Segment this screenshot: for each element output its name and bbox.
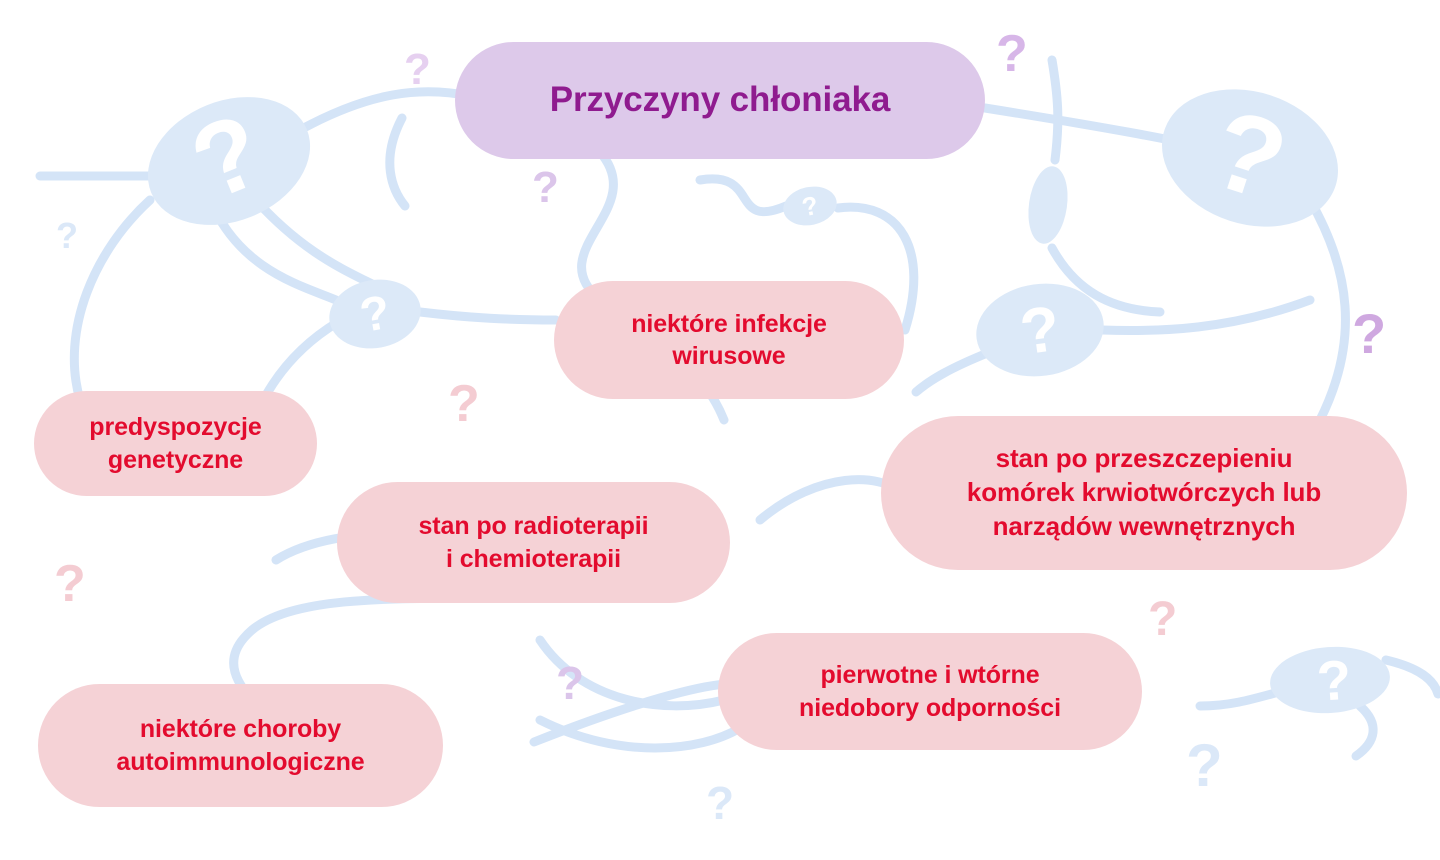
curve-right-top	[1052, 60, 1058, 160]
cause-label: predyspozycje genetyczne	[89, 411, 261, 476]
blob-small-upper	[780, 182, 841, 230]
blob-top-right	[1144, 67, 1356, 248]
cause-label: stan po radioterapii i chemioterapii	[419, 510, 649, 575]
cause-pill-radio-chemioterapia: stan po radioterapii i chemioterapii	[337, 482, 730, 603]
cause-pill-choroby-autoimmunologiczne: niektóre choroby autoimmunologiczne	[38, 684, 443, 807]
blob-mid-left	[324, 273, 426, 356]
question-mark-icon: ?	[556, 660, 584, 706]
curve-center-s	[700, 179, 786, 212]
curve-right-out	[1102, 300, 1310, 331]
question-mark-icon: ?	[404, 48, 431, 92]
cause-label: niektóre choroby autoimmunologiczne	[116, 713, 364, 778]
curve-tl-to-title	[300, 92, 470, 130]
page-title: Przyczyny chłoniaka	[550, 80, 890, 120]
question-mark-icon: ?	[54, 558, 86, 610]
cause-pill-predyspozycje-genetyczne: predyspozycje genetyczne	[34, 391, 317, 496]
question-mark-icon: ?	[706, 780, 734, 826]
question-mark-icon: ?	[532, 166, 559, 210]
question-mark-icon: ?	[996, 28, 1028, 80]
question-mark-icon: ?	[1186, 736, 1223, 796]
curve-title-right	[985, 108, 1170, 140]
blob-narrow-right	[1024, 164, 1072, 247]
question-mark-icon: ?	[1148, 596, 1177, 644]
curve-ml-left	[210, 200, 336, 300]
curve-tl-down	[252, 196, 372, 284]
question-mark-icon: ?	[56, 218, 78, 254]
infographic-canvas: ? ? ? ? ? ?	[0, 0, 1440, 860]
cause-label: niektóre infekcje wirusowe	[631, 308, 827, 373]
curve-bottom-right-1	[540, 720, 740, 748]
cause-label: pierwotne i wtórne niedobory odporności	[799, 659, 1061, 724]
blob-mid-right	[970, 276, 1110, 385]
curve-far-right-edge	[1386, 660, 1438, 694]
curve-tr-down	[1310, 200, 1345, 420]
cause-label: stan po przeszczepieniu komórek krwiotwó…	[967, 442, 1321, 543]
curve-right-lower	[760, 480, 900, 520]
cause-pill-niedobory-odpornosci: pierwotne i wtórne niedobory odporności	[718, 633, 1142, 750]
curve-br-tail	[1200, 690, 1286, 706]
blob-top-left	[129, 74, 330, 248]
blob-bottom-right	[1268, 643, 1392, 717]
curve-right-mid	[1052, 248, 1160, 312]
cause-pill-infekcje-wirusowe: niektóre infekcje wirusowe	[554, 281, 904, 399]
curve-under-title	[390, 118, 405, 206]
question-mark-icon: ?	[448, 378, 480, 430]
curve-mr-tail	[916, 352, 990, 392]
question-mark-icon: ?	[1352, 306, 1386, 362]
curve-br-out	[1356, 706, 1373, 756]
cause-pill-przeszczepienie: stan po przeszczepieniu komórek krwiotwó…	[881, 416, 1407, 570]
title-pill: Przyczyny chłoniaka	[455, 42, 985, 159]
curve-ml-right	[420, 312, 556, 320]
